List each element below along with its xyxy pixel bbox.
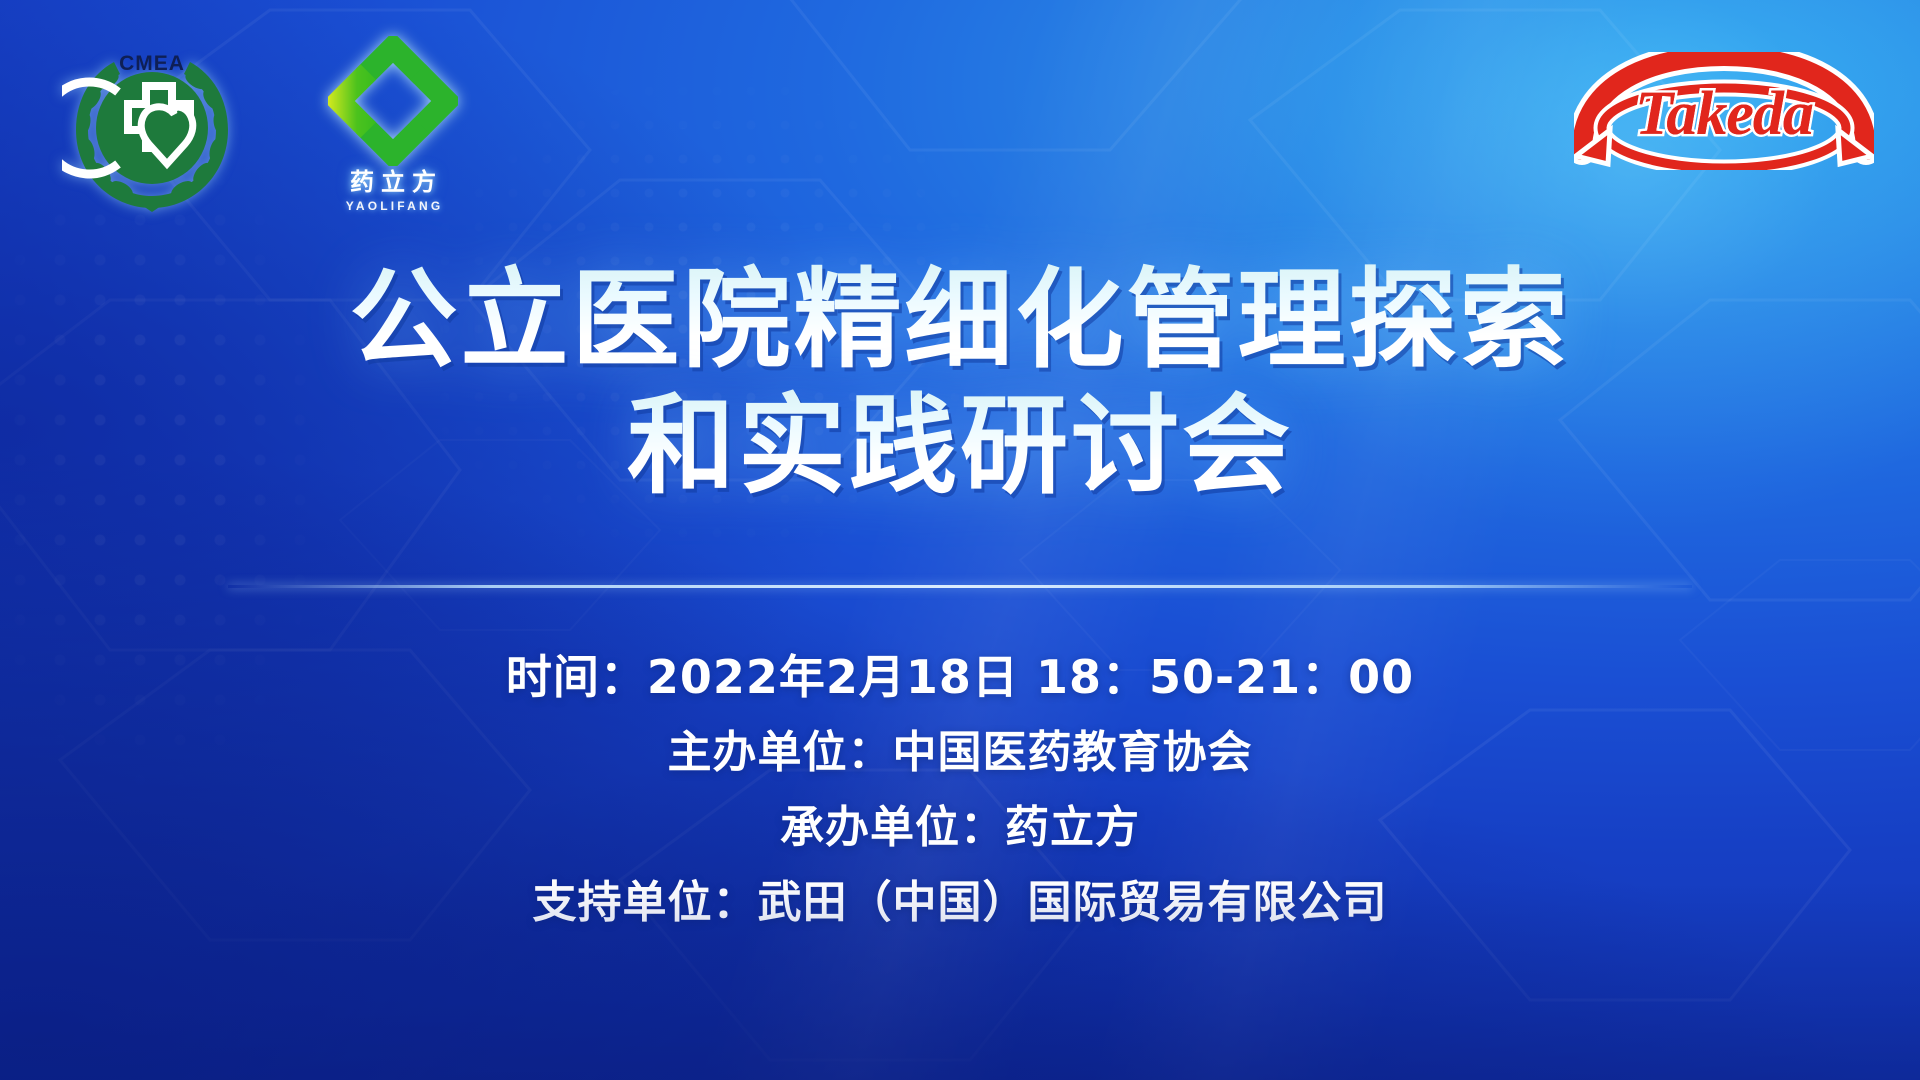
event-time: 时间：2022年2月18日 18：50-21：00: [0, 640, 1920, 715]
takeda-wordmark: Takeda: [1574, 79, 1874, 150]
yaolifang-en-name: YAOLIFANG: [318, 199, 468, 213]
left-logo-group: CMEA 药立方 YA: [62, 36, 468, 221]
event-organizer: 主办单位：中国医药教育协会: [0, 715, 1920, 790]
cmea-logo: CMEA: [62, 36, 242, 216]
title-line-1: 公立医院精细化管理探索: [0, 258, 1920, 384]
page-title: 公立医院精细化管理探索 和实践研讨会: [0, 258, 1920, 510]
event-poster: CMEA 药立方 YA: [0, 0, 1920, 1080]
takeda-logo: Takeda Takeda: [1574, 52, 1874, 170]
divider: [228, 585, 1692, 588]
title-line-2: 和实践研讨会: [0, 384, 1920, 510]
yaolifang-cn-name: 药立方: [318, 162, 468, 197]
yaolifang-mark-icon: [328, 36, 458, 166]
event-co-organizer: 承办单位：药立方: [0, 790, 1920, 865]
yaolifang-logo: 药立方 YAOLIFANG: [318, 36, 468, 221]
cmea-wordmark: CMEA: [62, 52, 242, 76]
event-supporter: 支持单位：武田（中国）国际贸易有限公司: [0, 865, 1920, 940]
event-info: 时间：2022年2月18日 18：50-21：00 主办单位：中国医药教育协会 …: [0, 640, 1920, 940]
